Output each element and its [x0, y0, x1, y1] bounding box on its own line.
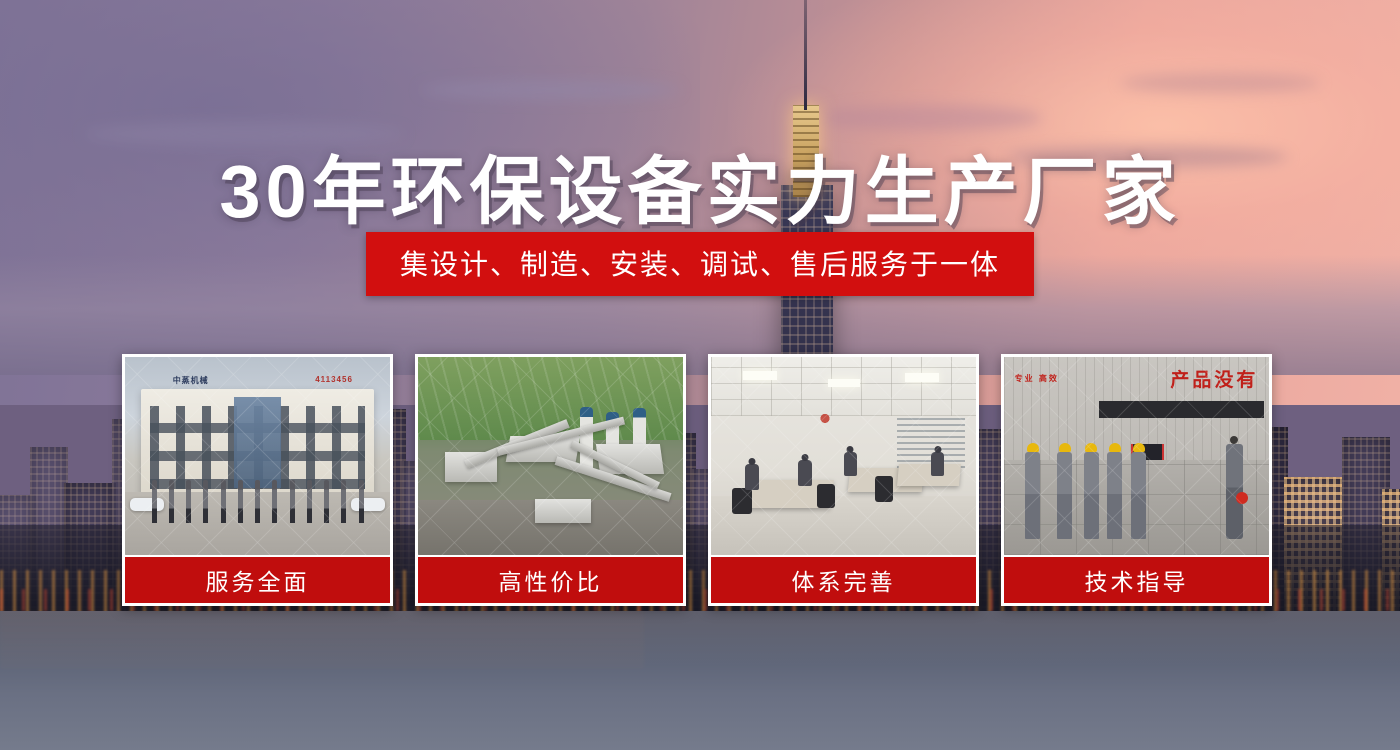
cloud: [1120, 73, 1320, 93]
photo-plant-aerial: [418, 357, 683, 555]
photo-office-building: 中蒸机械 4113456: [125, 357, 390, 555]
watermark-overlay: [1004, 357, 1269, 555]
photo-factory-workers: 产品没有 专业 高效: [1004, 357, 1269, 555]
watermark-overlay: [711, 357, 976, 555]
feature-card-guidance[interactable]: 产品没有 专业 高效 技术指导: [1001, 354, 1272, 606]
subtitle-text: 集设计、制造、安装、调试、售后服务于一体: [400, 243, 1000, 283]
watermark-overlay: [125, 357, 390, 555]
cloud: [420, 81, 680, 99]
feature-card-value[interactable]: 高性价比: [415, 354, 686, 606]
card-caption: 服务全面: [125, 555, 390, 603]
tower-spire: [804, 0, 807, 110]
photo-office-interior: [711, 357, 976, 555]
subtitle-banner: 集设计、制造、安装、调试、售后服务于一体: [366, 232, 1034, 296]
feature-card-system[interactable]: 体系完善: [708, 354, 979, 606]
water-reflection: [0, 611, 644, 669]
promo-banner: 30年环保设备实力生产厂家 集设计、制造、安装、调试、售后服务于一体 中蒸机械 …: [0, 0, 1400, 750]
card-caption: 高性价比: [418, 555, 683, 603]
feature-card-list: 中蒸机械 4113456 服务全面: [122, 354, 1278, 606]
card-caption: 技术指导: [1004, 555, 1269, 603]
river-water: [0, 611, 1400, 750]
watermark-overlay: [418, 357, 683, 555]
page-title: 30年环保设备实力生产厂家: [0, 132, 1400, 239]
card-caption: 体系完善: [711, 555, 976, 603]
feature-card-service[interactable]: 中蒸机械 4113456 服务全面: [122, 354, 393, 606]
